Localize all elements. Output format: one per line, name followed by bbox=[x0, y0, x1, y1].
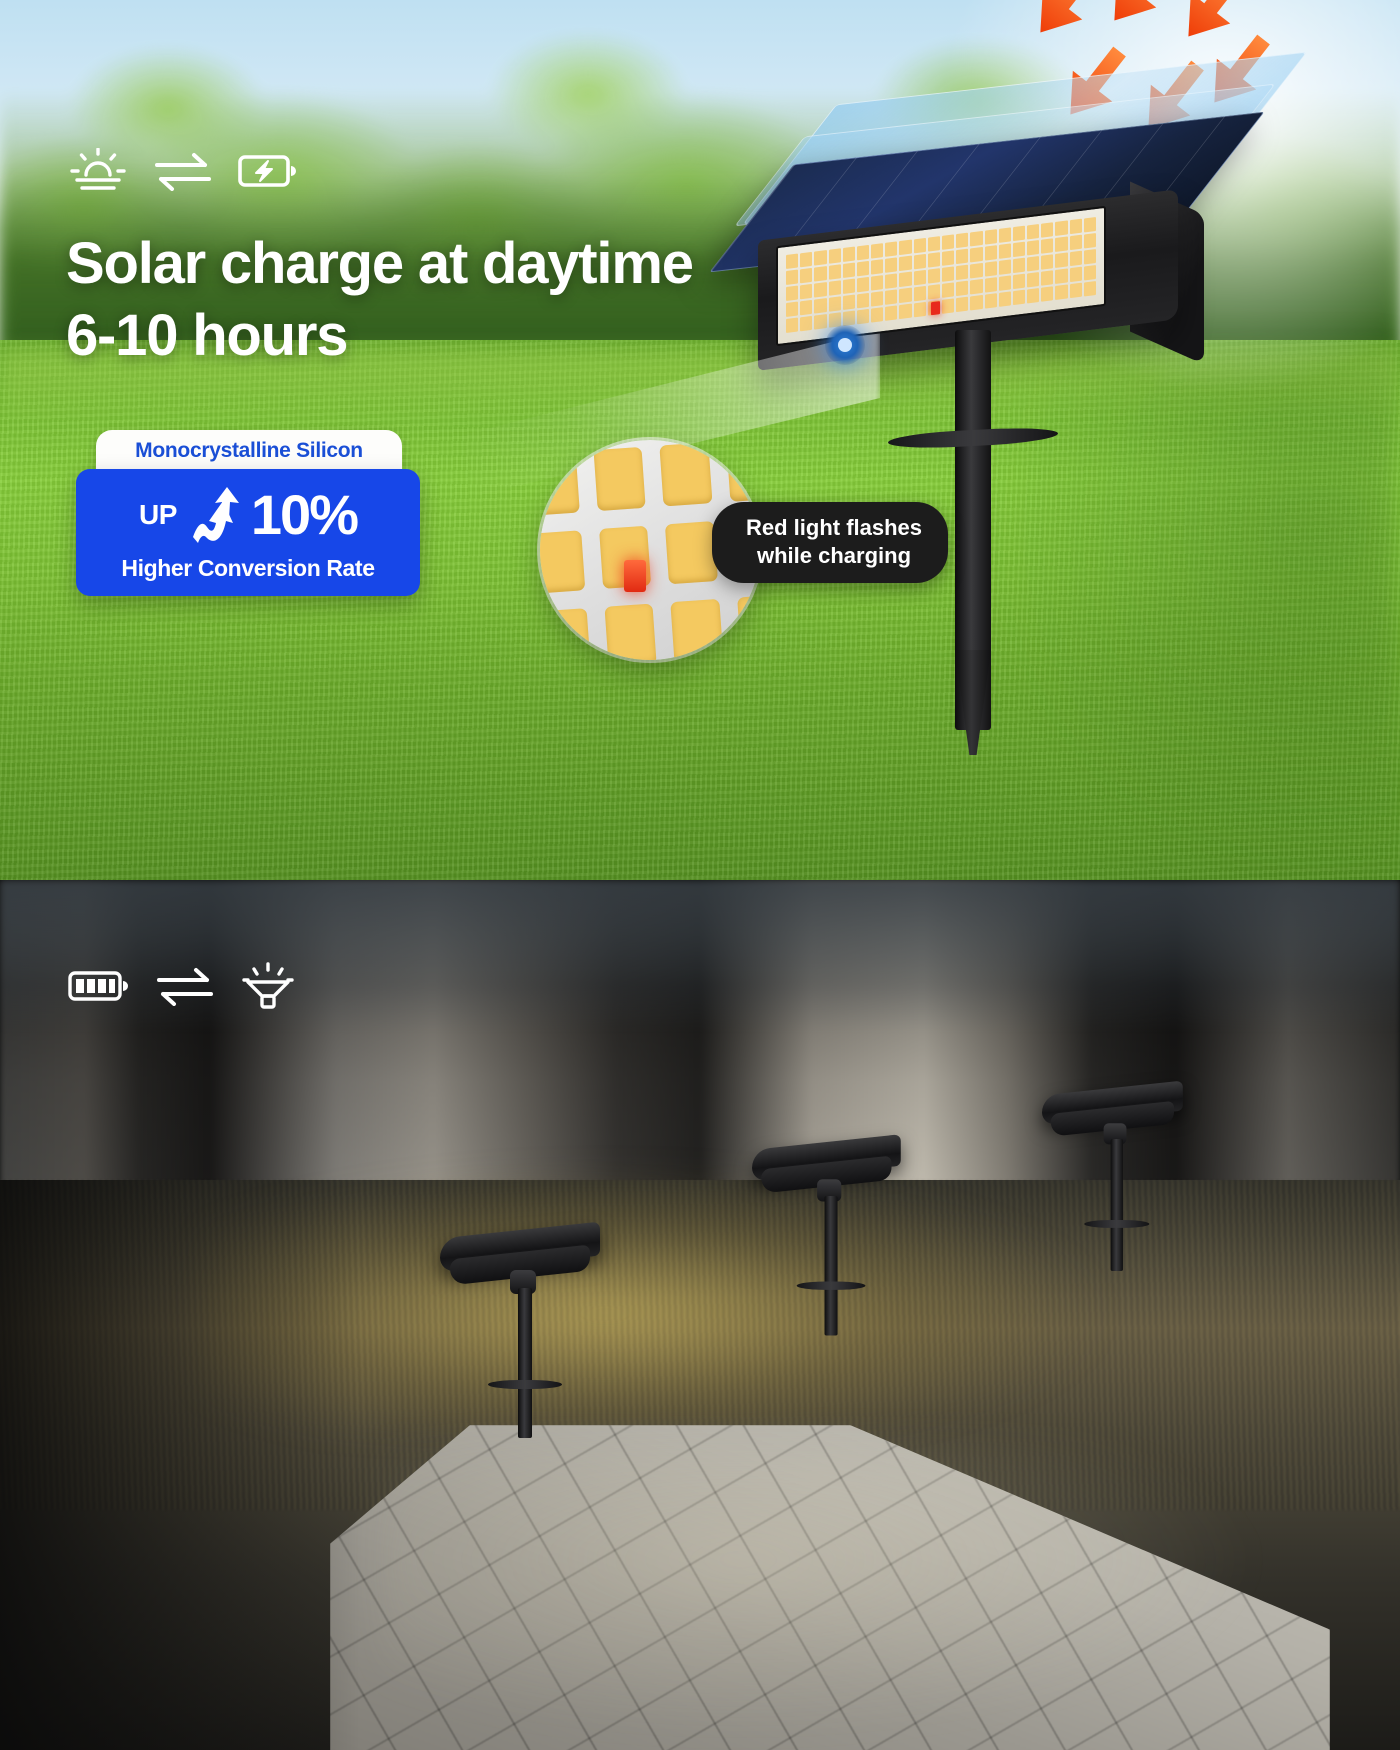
led-cell bbox=[786, 286, 798, 301]
led-cell bbox=[814, 298, 826, 313]
led-cell bbox=[985, 261, 997, 276]
led-cell bbox=[1070, 251, 1082, 266]
section-night: Auto lighting up at night 10-23 hours So… bbox=[0, 880, 1400, 1750]
led-cell bbox=[1013, 226, 1025, 241]
led-cell-closeup bbox=[540, 530, 585, 594]
led-cell bbox=[942, 266, 954, 281]
led-cell bbox=[899, 272, 911, 287]
led-cell bbox=[857, 309, 869, 324]
lamp-light-icon bbox=[240, 962, 296, 1010]
led-cell bbox=[1027, 272, 1039, 287]
night-lamp-pole bbox=[518, 1288, 532, 1438]
led-cell bbox=[1055, 236, 1067, 251]
led-cell bbox=[857, 261, 869, 276]
led-cell bbox=[999, 275, 1011, 290]
led-cell-closeup bbox=[659, 442, 712, 506]
led-cell-closeup bbox=[540, 608, 590, 660]
led-cell bbox=[800, 268, 812, 283]
led-cell bbox=[956, 297, 968, 312]
led-cell bbox=[1041, 286, 1053, 301]
led-cell bbox=[786, 270, 798, 285]
led-cell bbox=[1055, 220, 1067, 235]
led-cell bbox=[956, 249, 968, 264]
led-cell bbox=[1055, 268, 1067, 283]
led-cell bbox=[1027, 224, 1039, 239]
led-cell bbox=[1027, 240, 1039, 255]
feature-icon-row-day bbox=[68, 148, 298, 194]
led-cell bbox=[970, 247, 982, 262]
led-cell bbox=[914, 286, 926, 301]
led-cell bbox=[843, 311, 855, 326]
led-cell bbox=[985, 229, 997, 244]
feature-icon-row-night bbox=[68, 962, 296, 1010]
led-cell bbox=[956, 233, 968, 248]
led-cell bbox=[899, 288, 911, 303]
led-cell bbox=[885, 305, 897, 320]
led-cell bbox=[829, 296, 841, 311]
led-cell bbox=[1055, 284, 1067, 299]
led-cell bbox=[829, 280, 841, 295]
led-cell bbox=[999, 227, 1011, 242]
led-cell bbox=[885, 257, 897, 272]
led-cell bbox=[985, 277, 997, 292]
night-lamp-fin bbox=[488, 1380, 562, 1389]
red-indicator-led bbox=[931, 301, 940, 315]
led-cell bbox=[956, 281, 968, 296]
led-cell bbox=[1013, 290, 1025, 305]
sun-icon bbox=[68, 148, 128, 194]
led-cell bbox=[857, 293, 869, 308]
led-cell bbox=[970, 295, 982, 310]
led-cell bbox=[914, 254, 926, 269]
led-cell bbox=[1041, 222, 1053, 237]
led-cell bbox=[800, 316, 812, 331]
led-cell bbox=[970, 279, 982, 294]
led-cell bbox=[942, 298, 954, 313]
led-cell bbox=[814, 282, 826, 297]
led-cell bbox=[1027, 288, 1039, 303]
led-cell bbox=[999, 291, 1011, 306]
led-cell bbox=[985, 293, 997, 308]
red-led-closeup bbox=[624, 560, 646, 592]
led-cell bbox=[786, 318, 798, 333]
led-cell bbox=[970, 263, 982, 278]
led-cell bbox=[843, 295, 855, 310]
up-trend-arrow-icon bbox=[187, 485, 241, 545]
stat-prefix-up: UP bbox=[139, 499, 177, 531]
led-cell bbox=[914, 238, 926, 253]
led-cell bbox=[843, 263, 855, 278]
led-cell bbox=[800, 300, 812, 315]
led-cell bbox=[970, 231, 982, 246]
led-cell bbox=[899, 304, 911, 319]
led-cell bbox=[1070, 283, 1082, 298]
led-cell bbox=[814, 250, 826, 265]
led-cell bbox=[829, 248, 841, 263]
led-cell bbox=[899, 256, 911, 271]
led-cell bbox=[871, 259, 883, 274]
led-cell bbox=[928, 268, 940, 283]
led-cell bbox=[942, 250, 954, 265]
section-daytime: Solar charge at daytime 6-10 hours Monoc… bbox=[0, 0, 1400, 880]
stat-box-conversion: UP 10% Higher Conversion Rate bbox=[76, 469, 420, 596]
led-cell bbox=[928, 284, 940, 299]
led-cell bbox=[1070, 267, 1082, 282]
exchange-arrows-icon bbox=[154, 151, 212, 191]
led-cell bbox=[814, 266, 826, 281]
led-cell bbox=[1041, 238, 1053, 253]
led-cell bbox=[800, 252, 812, 267]
led-cell bbox=[1084, 265, 1096, 280]
night-lamp-pole bbox=[1111, 1139, 1123, 1271]
night-lamp-pole bbox=[825, 1196, 838, 1336]
stat-subtitle-conversion: Higher Conversion Rate bbox=[86, 555, 410, 582]
battery-charging-icon bbox=[238, 152, 298, 190]
led-cell bbox=[1084, 233, 1096, 248]
led-cell bbox=[843, 247, 855, 262]
led-cell bbox=[857, 277, 869, 292]
led-cell bbox=[885, 241, 897, 256]
led-cell-closeup bbox=[540, 452, 579, 516]
night-lamp-fin bbox=[1084, 1220, 1149, 1228]
stat-value-10-percent: 10% bbox=[251, 487, 357, 543]
led-cell-closeup bbox=[670, 599, 723, 660]
led-cell bbox=[857, 245, 869, 260]
night-lamp-fin bbox=[797, 1282, 866, 1290]
led-cell bbox=[871, 275, 883, 290]
led-cell bbox=[871, 243, 883, 258]
led-cell bbox=[999, 243, 1011, 258]
led-cell-closeup bbox=[726, 440, 760, 502]
headline-daytime: Solar charge at daytime 6-10 hours bbox=[66, 228, 693, 372]
led-cell-closeup bbox=[604, 604, 657, 660]
led-cell bbox=[914, 302, 926, 317]
led-cell bbox=[885, 273, 897, 288]
stat-badge-conversion: Monocrystalline Silicon UP 10% Higher Co… bbox=[76, 430, 420, 596]
led-cell bbox=[1041, 254, 1053, 269]
led-cell bbox=[1070, 219, 1082, 234]
stat-main-row: UP 10% bbox=[86, 485, 410, 545]
solar-lamp-product bbox=[750, 30, 1270, 710]
led-cell-closeup bbox=[665, 521, 718, 585]
exchange-arrows-icon bbox=[156, 966, 214, 1006]
led-cell bbox=[999, 259, 1011, 274]
led-cell bbox=[786, 254, 798, 269]
led-cell bbox=[885, 289, 897, 304]
led-cell bbox=[1084, 249, 1096, 264]
led-cell bbox=[829, 264, 841, 279]
light-sensor-icon bbox=[825, 325, 865, 365]
led-cell bbox=[956, 265, 968, 280]
led-cell bbox=[843, 279, 855, 294]
led-cell bbox=[1084, 217, 1096, 232]
led-cell-closeup bbox=[593, 447, 646, 511]
battery-full-icon bbox=[68, 967, 130, 1005]
led-cell bbox=[786, 302, 798, 317]
led-cell bbox=[985, 245, 997, 260]
led-cell bbox=[814, 314, 826, 329]
led-cell-closeup bbox=[737, 595, 760, 659]
led-cell bbox=[871, 291, 883, 306]
led-cell bbox=[942, 282, 954, 297]
led-cell bbox=[899, 240, 911, 255]
led-cell bbox=[1013, 258, 1025, 273]
led-cell bbox=[1070, 235, 1082, 250]
led-cell bbox=[928, 236, 940, 251]
led-cell bbox=[1013, 242, 1025, 257]
led-cell bbox=[928, 252, 940, 267]
led-cell bbox=[914, 270, 926, 285]
led-cell bbox=[800, 284, 812, 299]
led-cell bbox=[1041, 270, 1053, 285]
night-top-vignette bbox=[0, 880, 1400, 1300]
led-cell bbox=[1084, 281, 1096, 296]
led-cell bbox=[942, 234, 954, 249]
callout-red-light: Red light flashes while charging bbox=[712, 502, 948, 583]
walkway-light-glow bbox=[380, 1440, 1280, 1740]
led-cell bbox=[1027, 256, 1039, 271]
led-cell bbox=[1013, 274, 1025, 289]
led-cell bbox=[1055, 252, 1067, 267]
led-cell bbox=[871, 307, 883, 322]
product-infographic: Solar charge at daytime 6-10 hours Monoc… bbox=[0, 0, 1400, 1750]
